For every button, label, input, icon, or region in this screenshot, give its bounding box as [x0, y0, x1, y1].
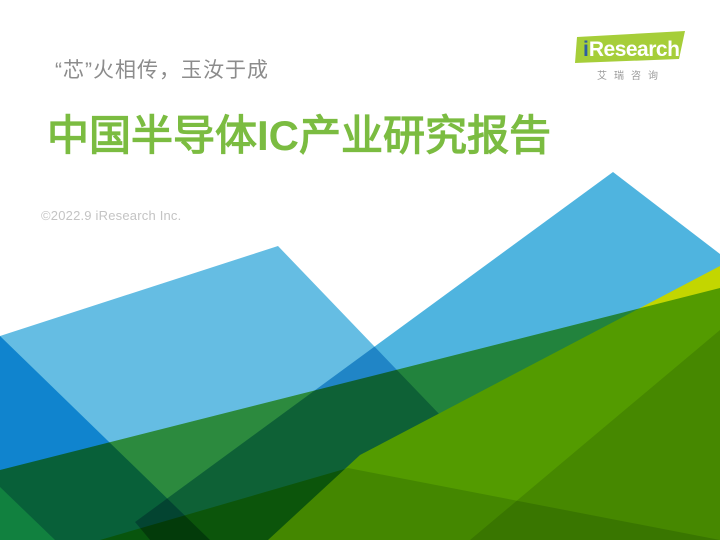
logo-brand-name: Research [589, 39, 680, 60]
cover-subtitle: “芯”火相传，玉汝于成 [55, 54, 269, 84]
copyright-notice: ©2022.9 iResearch Inc. [41, 208, 181, 223]
logo-wordmark: i Research [575, 31, 687, 65]
page-title: 中国半导体IC产业研究报告 [47, 112, 551, 160]
iresearch-logo: i Research 艾瑞咨询 [575, 31, 687, 93]
logo-chinese-name: 艾瑞咨询 [579, 67, 683, 82]
report-cover-slide: “芯”火相传，玉汝于成 中国半导体IC产业研究报告 ©2022.9 iResea… [0, 0, 720, 540]
